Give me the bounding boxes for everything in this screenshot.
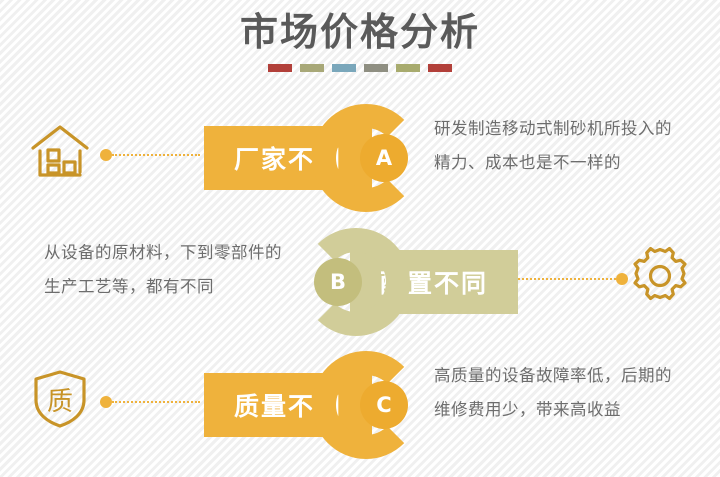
row-item-c: 质 质量不同 C 高质量的设备故障率低，后期的维修费用少，带来高收益 xyxy=(0,345,720,465)
connector-dot xyxy=(100,149,112,161)
badge-c: C xyxy=(360,381,408,429)
connector-dotted xyxy=(112,154,200,156)
connector-line-c xyxy=(100,395,200,409)
shield-quality-icon: 质 xyxy=(28,367,92,431)
row-item-b: 从设备的原材料，下到零部件的生产工艺等，都有不同 配置不同 B xyxy=(0,222,720,342)
connector-dotted xyxy=(518,278,616,280)
divider-dash-1 xyxy=(268,64,292,72)
badge-b: B xyxy=(314,258,362,306)
connector-line-a xyxy=(100,148,200,162)
badge-letter: B xyxy=(330,272,346,293)
description-a: 研发制造移动式制砂机所投入的精力、成本也是不一样的 xyxy=(434,112,674,180)
row-item-a: 厂家不同 A 研发制造移动式制砂机所投入的精力、成本也是不一样的 xyxy=(0,98,720,218)
banner-c[interactable]: 质量不同 C xyxy=(204,351,420,459)
description-b: 从设备的原材料，下到零部件的生产工艺等，都有不同 xyxy=(44,236,284,304)
badge-a: A xyxy=(360,134,408,182)
divider-dash-5 xyxy=(396,64,420,72)
connector-dot xyxy=(616,273,628,285)
svg-text:质: 质 xyxy=(47,387,73,417)
divider-dash-6 xyxy=(428,64,452,72)
divider-dash-4 xyxy=(364,64,388,72)
title-divider xyxy=(0,64,720,72)
connector-line-b xyxy=(518,272,628,286)
house-icon xyxy=(28,120,92,184)
connector-dotted xyxy=(112,401,200,403)
connector-dot xyxy=(100,396,112,408)
banner-b[interactable]: 配置不同 B xyxy=(302,228,518,336)
header: 市场价格分析 xyxy=(0,8,720,72)
description-c: 高质量的设备故障率低，后期的维修费用少，带来高收益 xyxy=(434,359,674,427)
divider-dash-3 xyxy=(332,64,356,72)
badge-letter: A xyxy=(376,148,392,169)
page-title: 市场价格分析 xyxy=(0,8,720,56)
divider-dash-2 xyxy=(300,64,324,72)
infographic-canvas: 市场价格分析 xyxy=(0,0,720,477)
badge-letter: C xyxy=(376,395,391,416)
banner-a[interactable]: 厂家不同 A xyxy=(204,104,420,212)
gear-icon xyxy=(628,244,692,308)
